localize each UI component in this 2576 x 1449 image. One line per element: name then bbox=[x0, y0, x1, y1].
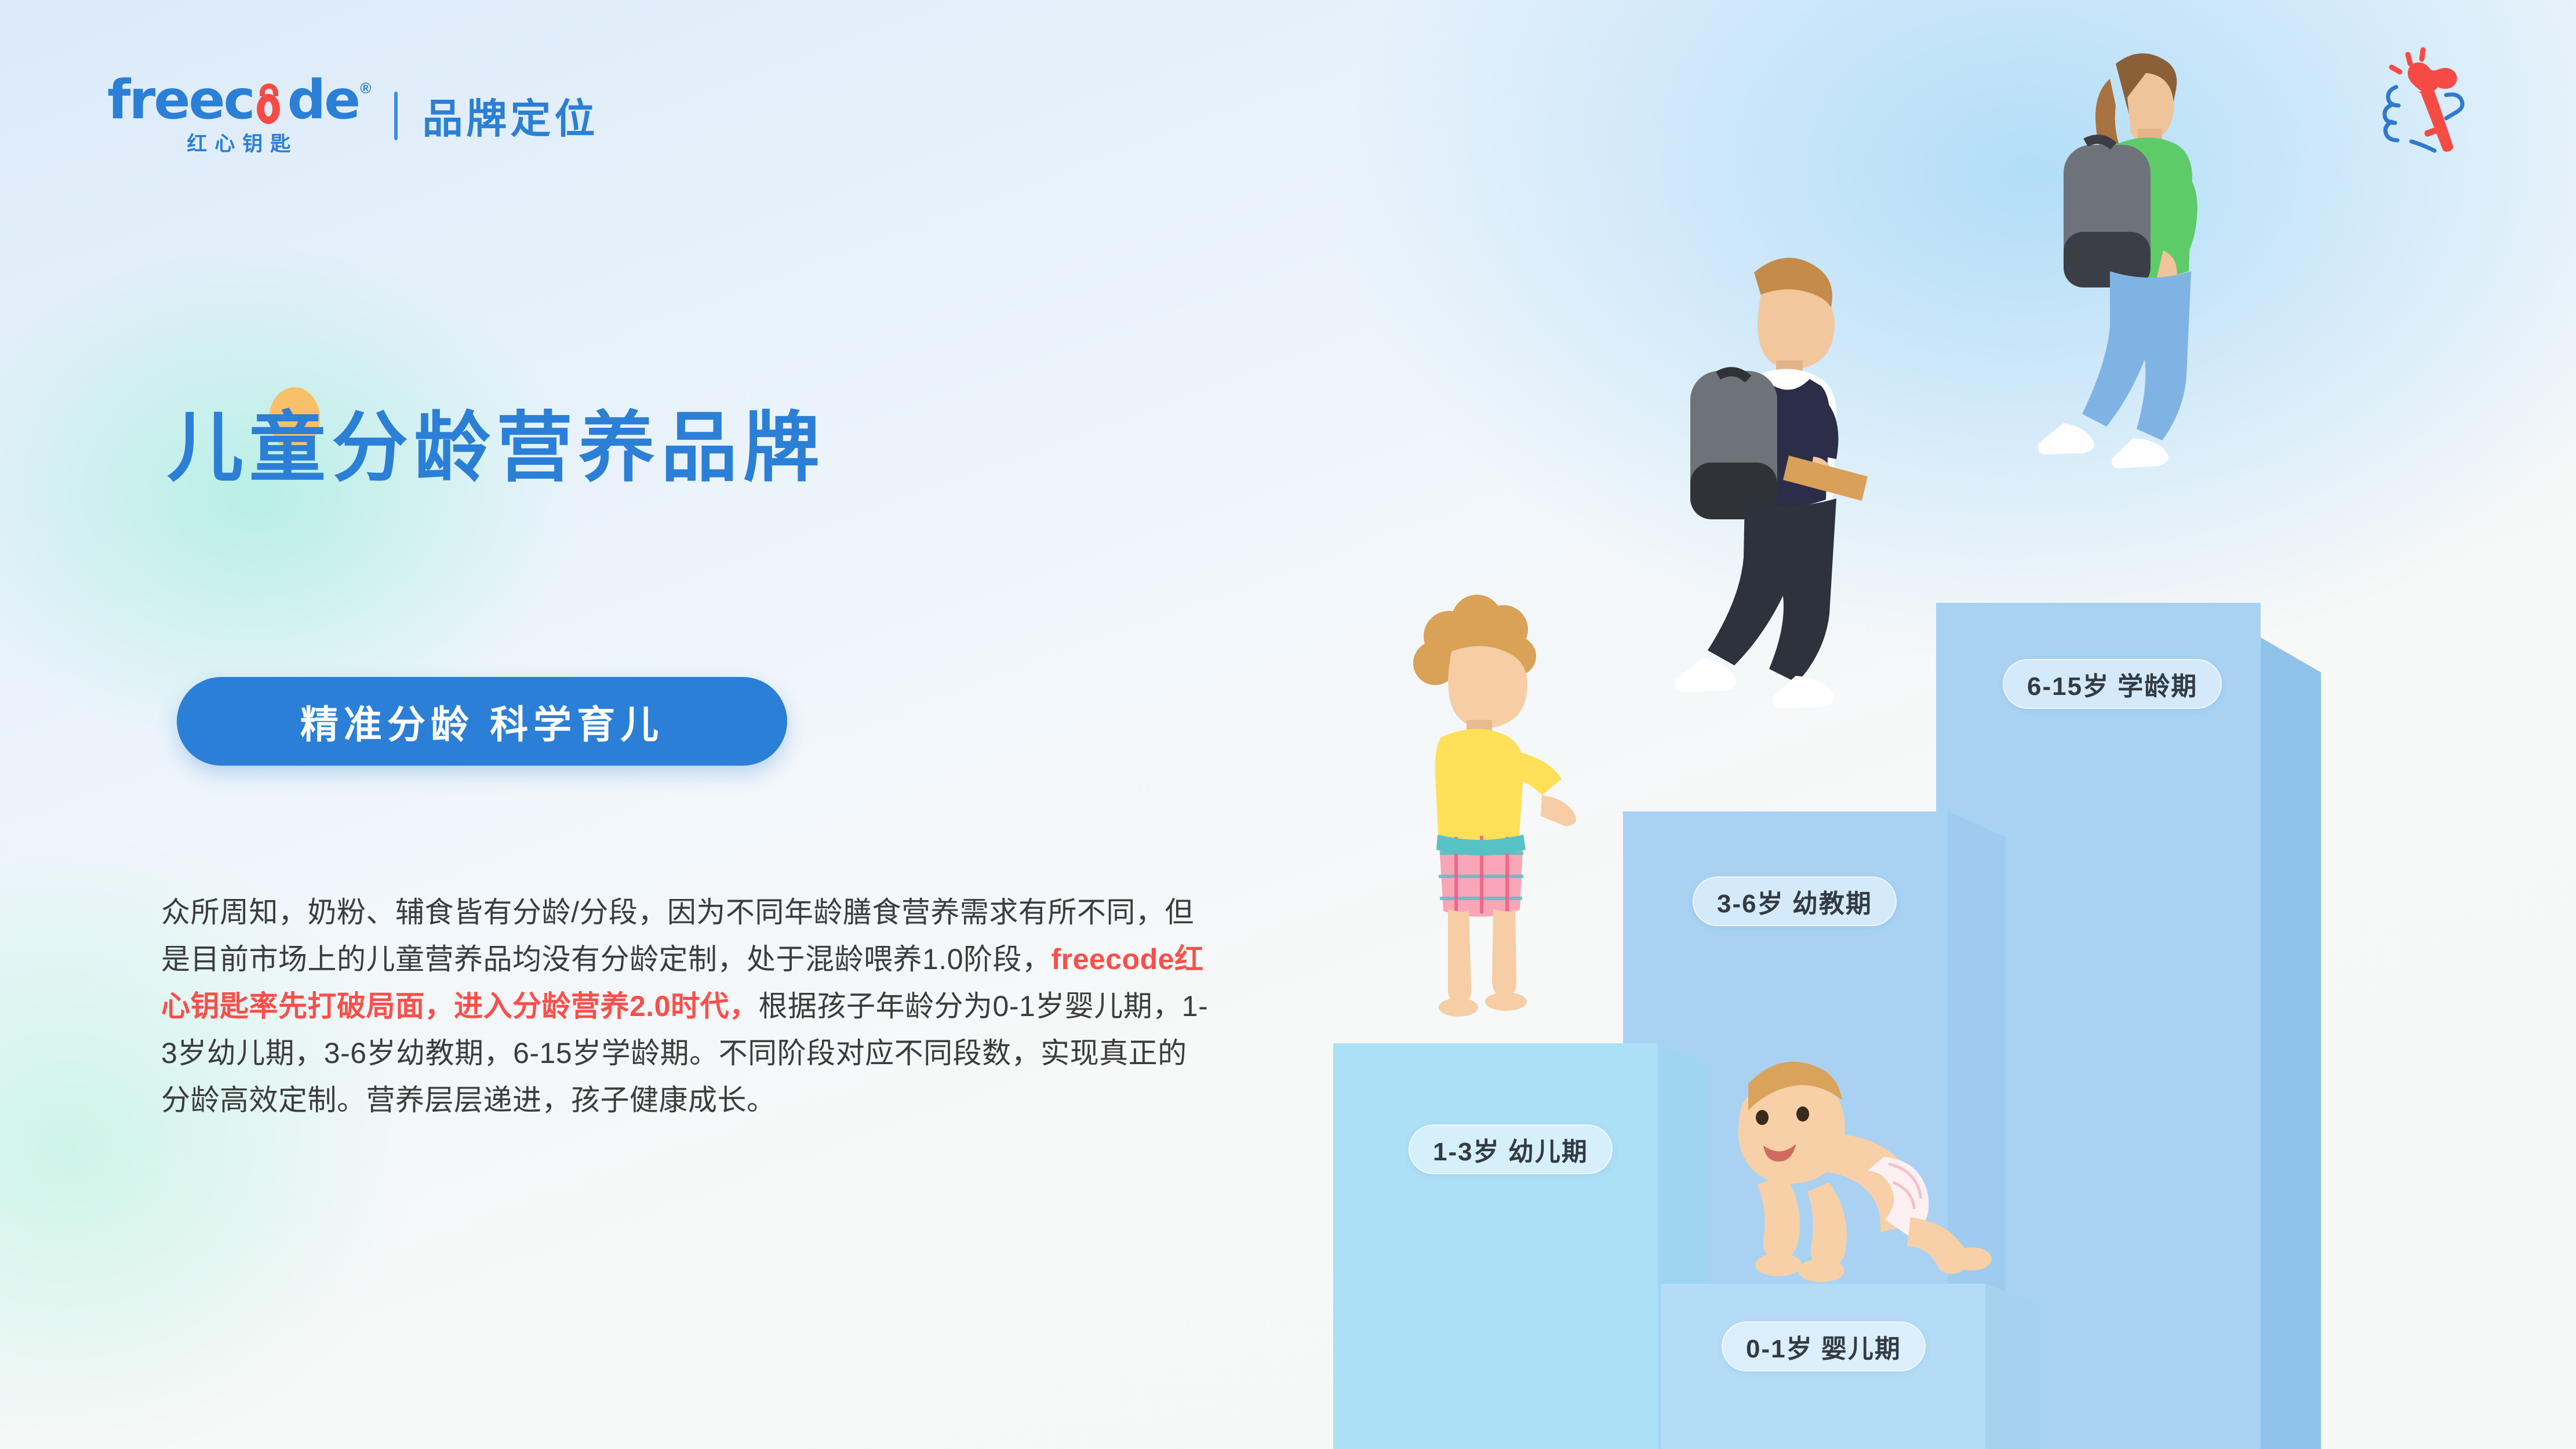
figure-toddler bbox=[1380, 591, 1623, 1055]
brand-divider bbox=[394, 92, 398, 140]
step-label-6-15: 6-15岁 学龄期 bbox=[2003, 659, 2222, 709]
body-copy: 众所周知，奶粉、辅食皆有分龄/分段，因为不同年龄膳食营养需求有所不同，但是目前市… bbox=[161, 889, 1210, 1124]
figure-schoolboy bbox=[1652, 232, 1924, 817]
wordmark-prefix: freec bbox=[107, 74, 254, 125]
figure-crawling-baby bbox=[1693, 1043, 2017, 1310]
step-label-0-1: 0-1岁 婴儿期 bbox=[1722, 1321, 1926, 1371]
heart-lock-o-icon bbox=[254, 87, 287, 125]
headline-block: 儿童分龄营养品牌 bbox=[167, 406, 825, 490]
step-label-3-6: 3-6岁 幼教期 bbox=[1693, 876, 1897, 926]
page-title: 儿童分龄营养品牌 bbox=[167, 406, 825, 490]
tagline-pill[interactable]: 精准分龄 科学育儿 bbox=[177, 677, 787, 766]
age-stage-staircase: 6-15岁 学龄期 3-6岁 幼教期 1-3岁 幼儿期 0-1岁 婴儿期 bbox=[1345, 603, 2576, 1449]
brand-logo[interactable]: freec de ® 红心钥匙 bbox=[107, 74, 370, 157]
brand-bar: freec de ® 红心钥匙 品牌定位 bbox=[107, 74, 598, 157]
step-block-1-3[interactable] bbox=[1333, 1043, 1658, 1449]
wordmark-suffix: de bbox=[288, 74, 359, 125]
brand-tagline: 品牌定位 bbox=[422, 86, 598, 145]
figure-teen-student bbox=[1994, 23, 2261, 638]
brand-chinese-name: 红心钥匙 bbox=[179, 128, 298, 157]
registered-mark: ® bbox=[360, 79, 371, 97]
step-label-1-3: 1-3岁 幼儿期 bbox=[1409, 1124, 1613, 1174]
poster-canvas: freec de ® 红心钥匙 品牌定位 bbox=[0, 0, 2576, 1449]
tagline-pill-label: 精准分龄 科学育儿 bbox=[300, 694, 664, 749]
body-copy-run: 众所周知，奶粉、辅食皆有分龄/分段，因为不同年龄膳食营养需求有所不同，但是目前市… bbox=[161, 896, 1194, 975]
wordmark: freec de ® bbox=[107, 74, 370, 125]
heart-key-icon bbox=[2375, 44, 2486, 154]
